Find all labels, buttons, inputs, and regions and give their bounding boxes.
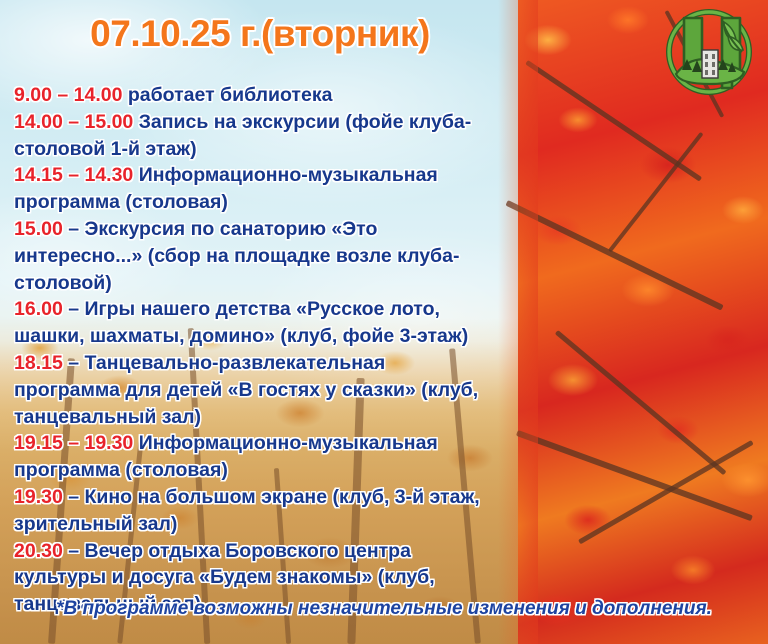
schedule-description: программа для детей «В гостях у сказки» … [14,379,478,401]
schedule-line: 19.15 – 19.30 Информационно-музыкальная [14,430,534,457]
schedule-line: интересно...» (сбор на площадке возле кл… [14,243,534,270]
schedule-time: 19.30 [14,486,63,508]
schedule-line: столовой 1-й этаж) [14,136,534,163]
schedule-description: Запись на экскурсии (фойе клуба- [133,111,471,133]
schedule-description: – Кино на большом экране (клуб, 3-й этаж… [63,486,480,508]
schedule-line: 14.00 – 15.00 Запись на экскурсии (фойе … [14,109,534,136]
schedule-description: шашки, шахматы, домино» (клуб, фойе 3-эт… [14,325,468,347]
schedule-description: интересно...» (сбор на площадке возле кл… [14,245,459,267]
schedule-line: 19.30 – Кино на большом экране (клуб, 3-… [14,484,534,511]
event-schedule-poster: 07.10.25 г.(вторник) 9.00 – 14.00 работа… [0,0,768,644]
schedule-description: программа (столовая) [14,459,228,481]
schedule-description: работает библиотека [122,84,332,106]
schedule-line: зрительный зал) [14,511,534,538]
schedule-line: 16.00 – Игры нашего детства «Русское лот… [14,296,534,323]
schedule-line: столовой) [14,270,534,297]
schedule-description: – Танцевально-развлекательная [63,352,385,374]
schedule-description: – Вечер отдыха Боровского центра [63,540,411,562]
schedule-description: танцевальный зал) [14,406,201,428]
schedule-description: столовой) [14,272,112,294]
schedule-line: 15.00 – Экскурсия по санаторию «Это [14,216,534,243]
schedule-time: 16.00 [14,298,63,320]
schedule-line: 14.15 – 14.30 Информационно-музыкальная [14,162,534,189]
schedule-time: 18.15 [14,352,63,374]
sanatorium-logo [662,6,756,98]
schedule-time: 20.30 [14,540,63,562]
poster-date-title: 07.10.25 г.(вторник) [0,13,520,55]
schedule-line: 20.30 – Вечер отдыха Боровского центра [14,538,534,565]
schedule-description: культуры и досуга «Будем знакомы» (клуб, [14,566,435,588]
schedule-line: культуры и досуга «Будем знакомы» (клуб, [14,564,534,591]
schedule-line: программа (столовая) [14,457,534,484]
schedule-line: программа для детей «В гостях у сказки» … [14,377,534,404]
schedule-time: 19.15 – 19.30 [14,432,133,454]
schedule-description: – Экскурсия по санаторию «Это [63,218,378,240]
schedule-list: 9.00 – 14.00 работает библиотека14.00 – … [14,82,534,618]
schedule-description: Информационно-музыкальная [133,432,438,454]
schedule-description: зрительный зал) [14,513,177,535]
schedule-line: 18.15 – Танцевально-развлекательная [14,350,534,377]
schedule-line: программа (столовая) [14,189,534,216]
schedule-time: 14.15 – 14.30 [14,164,133,186]
schedule-time: 15.00 [14,218,63,240]
schedule-line: танцевальный зал) [14,404,534,431]
schedule-time: 14.00 – 15.00 [14,111,133,133]
schedule-description: столовой 1-й этаж) [14,138,197,160]
schedule-description: – Игры нашего детства «Русское лото, [63,298,440,320]
schedule-time: 9.00 – 14.00 [14,84,122,106]
schedule-line: шашки, шахматы, домино» (клуб, фойе 3-эт… [14,323,534,350]
schedule-footnote: *В программе возможны незначительные изм… [0,598,768,620]
schedule-description: программа (столовая) [14,191,228,213]
schedule-line: 9.00 – 14.00 работает библиотека [14,82,534,109]
schedule-description: Информационно-музыкальная [133,164,438,186]
